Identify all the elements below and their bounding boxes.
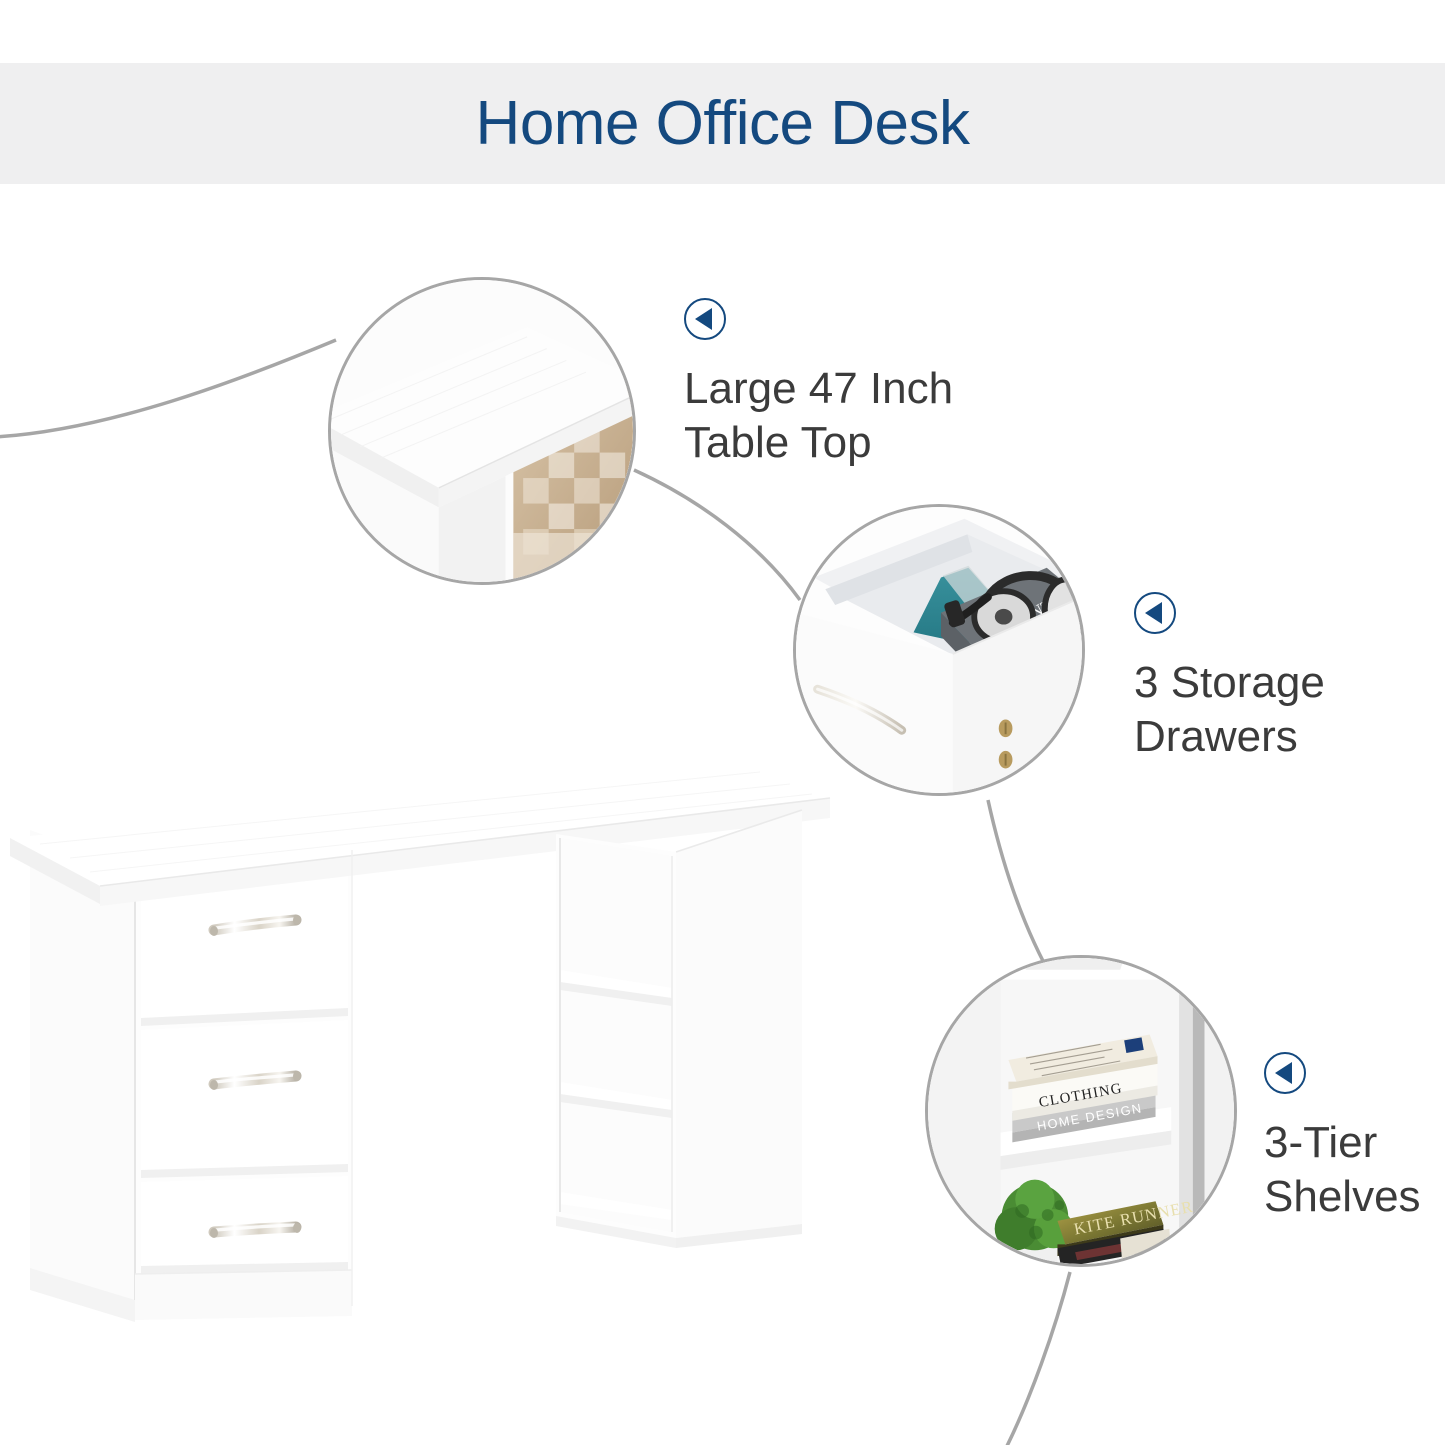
circled-left-arrow-icon	[1134, 592, 1176, 634]
callout-text-table-top: Large 47 Inch Table Top	[684, 362, 953, 469]
tier-shelves-detail-image: HOME DESIGN CLOTHING	[928, 958, 1234, 1264]
connector-left-to-circle1	[0, 340, 336, 437]
header-band: Home Office Desk	[0, 63, 1445, 184]
table-top-detail-image	[331, 280, 633, 582]
connector-circle1-to-circle2	[634, 470, 800, 600]
page-title: Home Office Desk	[476, 93, 970, 155]
connector-circle3-to-bottom	[1005, 1272, 1070, 1445]
callout-label-table-top: Large 47 Inch Table Top	[684, 298, 953, 469]
detail-circle-tier-shelves[interactable]: HOME DESIGN CLOTHING	[925, 955, 1237, 1267]
callout-text-tier-shelves: 3-Tier Shelves	[1264, 1116, 1421, 1223]
callout-label-storage-drawers: 3 Storage Drawers	[1134, 592, 1325, 763]
circled-left-arrow-icon	[1264, 1052, 1306, 1094]
detail-circle-table-top[interactable]	[328, 277, 636, 585]
callout-text-storage-drawers: 3 Storage Drawers	[1134, 656, 1325, 763]
callout-label-tier-shelves: 3-Tier Shelves	[1264, 1052, 1421, 1223]
product-image-desk	[0, 740, 880, 1380]
desk-illustration	[0, 740, 880, 1380]
circled-left-arrow-icon	[684, 298, 726, 340]
